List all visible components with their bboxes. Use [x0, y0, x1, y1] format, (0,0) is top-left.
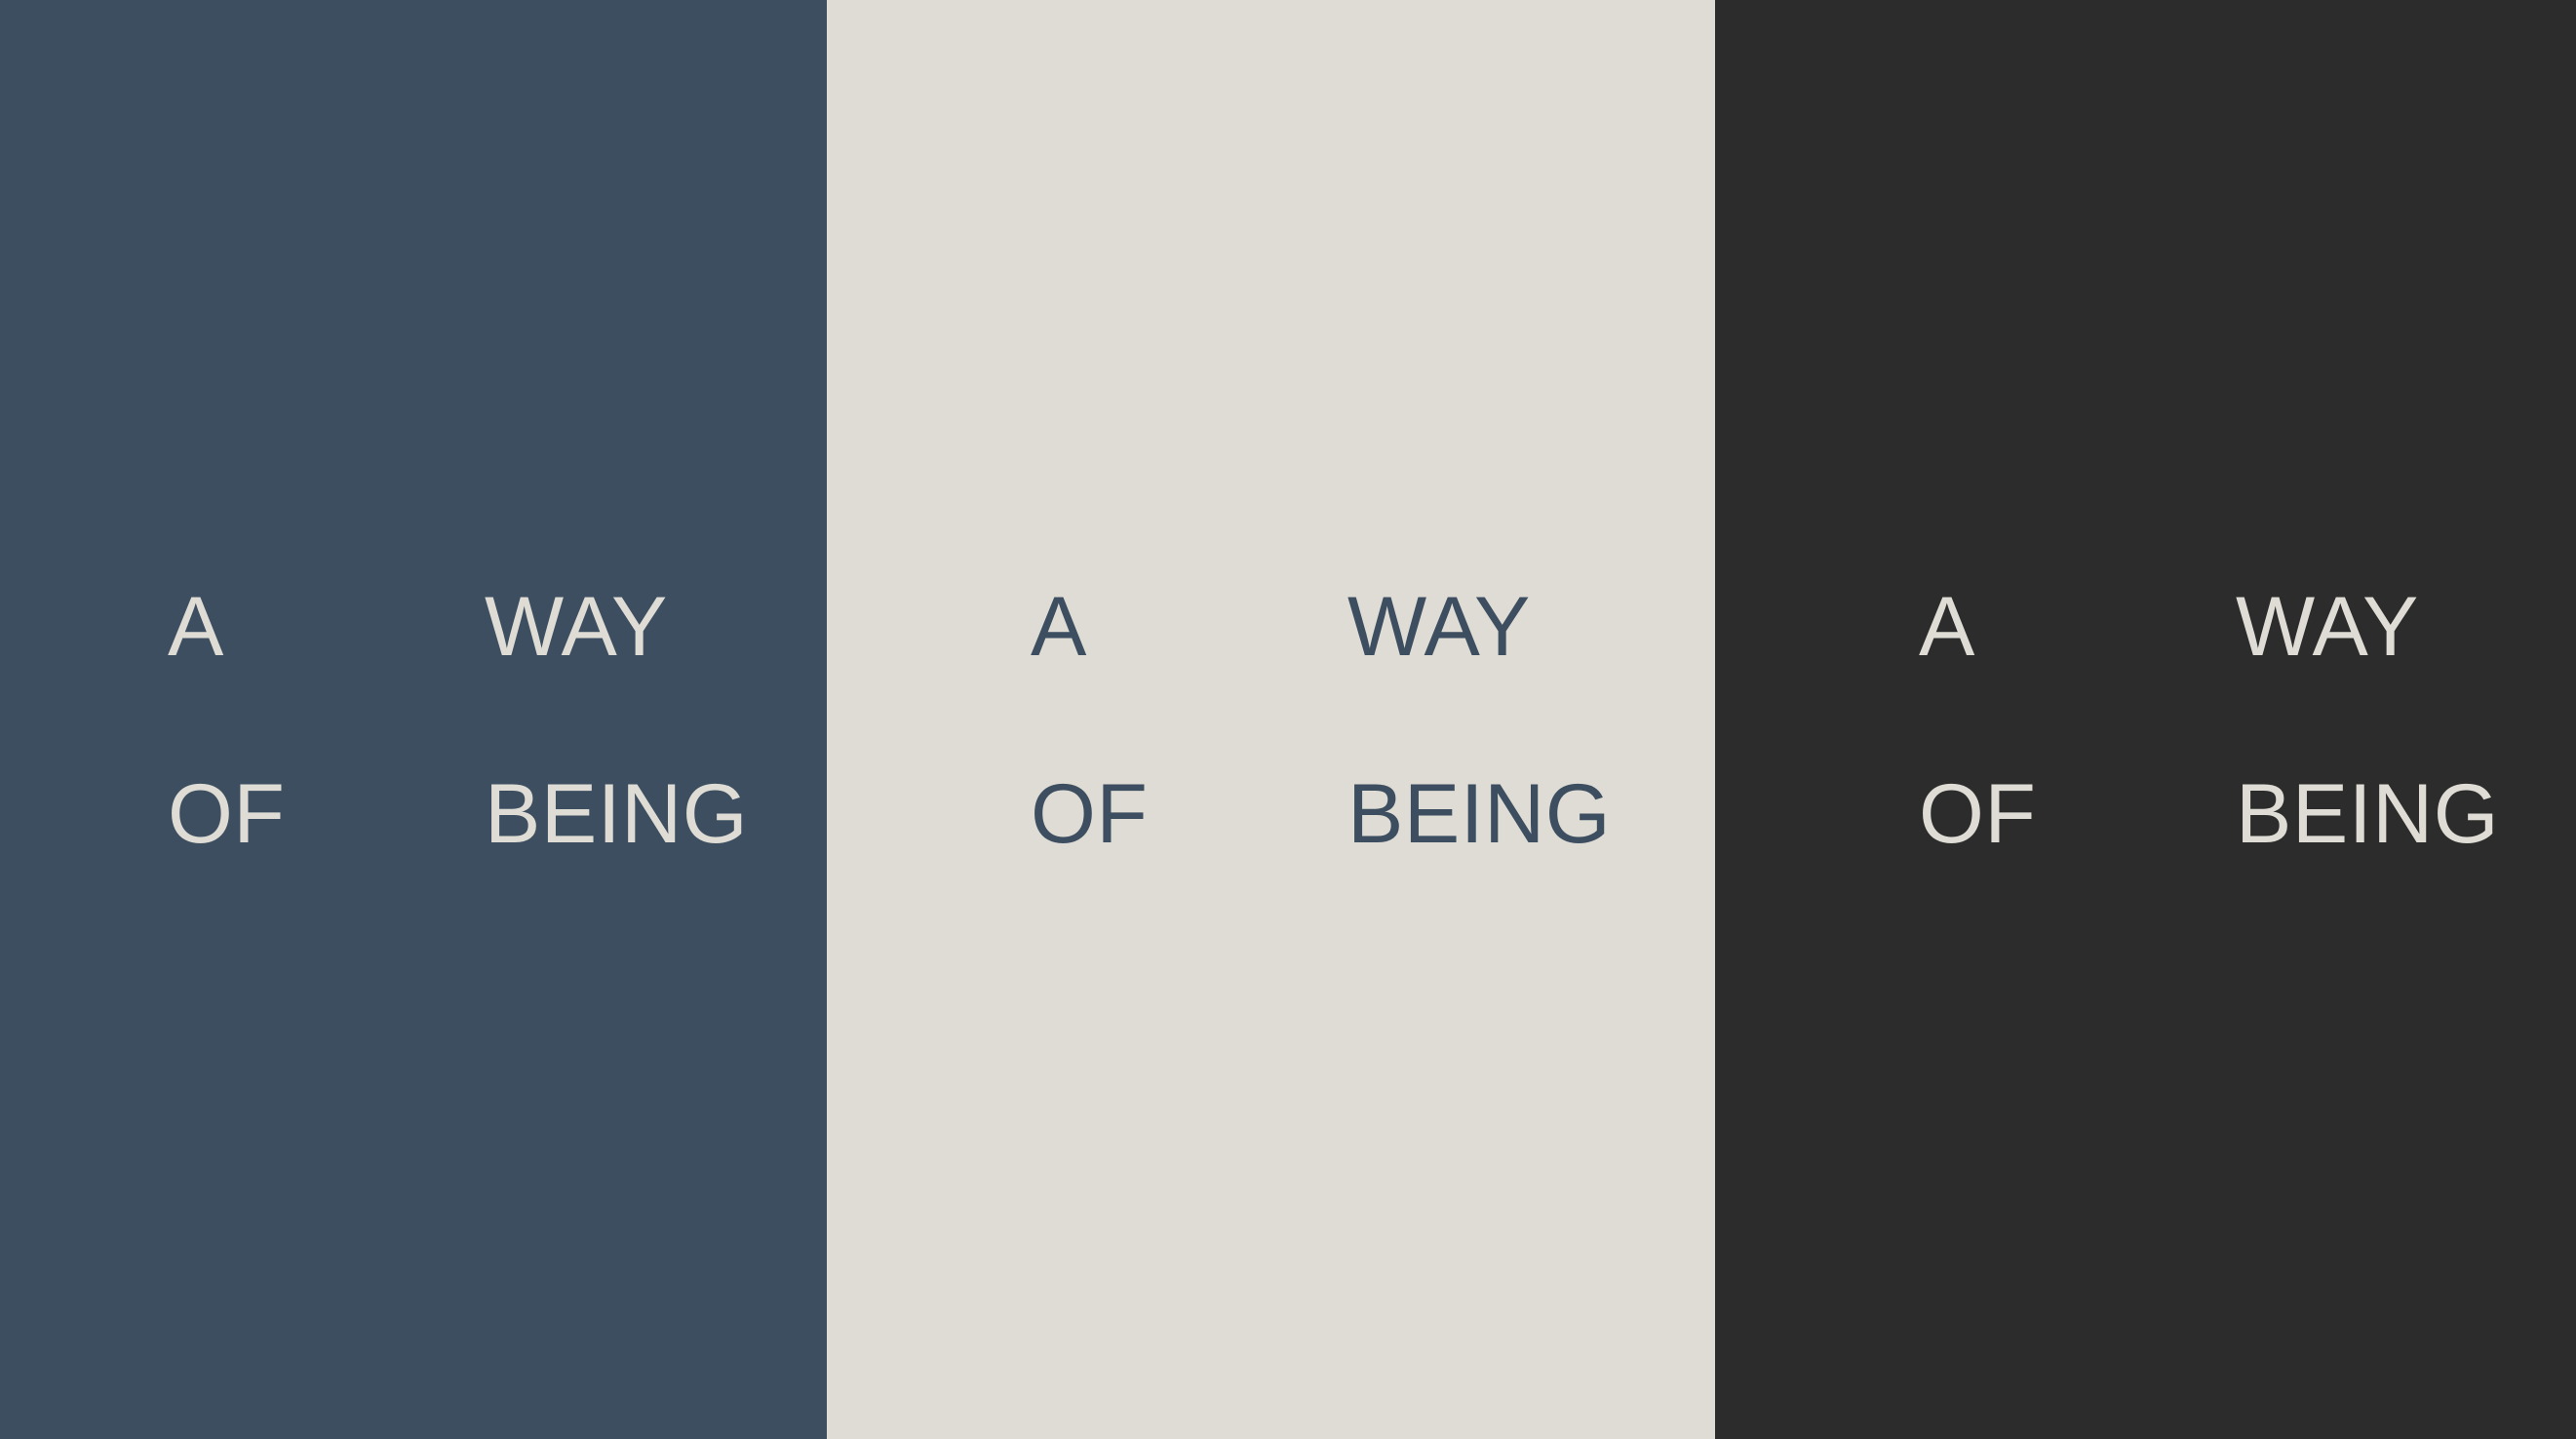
- word-being: BEING: [1347, 772, 1611, 875]
- word-way: WAY: [485, 585, 748, 669]
- panel-bone[interactable]: A WAY OF BEING: [827, 0, 1715, 1439]
- word-of: OF: [1031, 772, 1347, 875]
- word-being: BEING: [2236, 772, 2499, 875]
- artboard: A WAY OF BEING A WAY OF BEING A WAY OF B…: [0, 0, 2576, 1439]
- panel-slate[interactable]: A WAY OF BEING: [0, 0, 827, 1439]
- title-lockup-bone: A WAY OF BEING: [1031, 585, 1611, 875]
- panel-charcoal[interactable]: A WAY OF BEING: [1715, 0, 2576, 1439]
- title-lockup-charcoal: A WAY OF BEING: [1919, 585, 2499, 875]
- title-lockup-slate: A WAY OF BEING: [168, 585, 748, 875]
- word-a: A: [168, 585, 485, 669]
- word-a: A: [1919, 585, 2236, 669]
- word-way: WAY: [2236, 585, 2499, 669]
- word-of: OF: [1919, 772, 2236, 875]
- word-a: A: [1031, 585, 1347, 669]
- word-of: OF: [168, 772, 485, 875]
- word-way: WAY: [1347, 585, 1611, 669]
- word-being: BEING: [485, 772, 748, 875]
